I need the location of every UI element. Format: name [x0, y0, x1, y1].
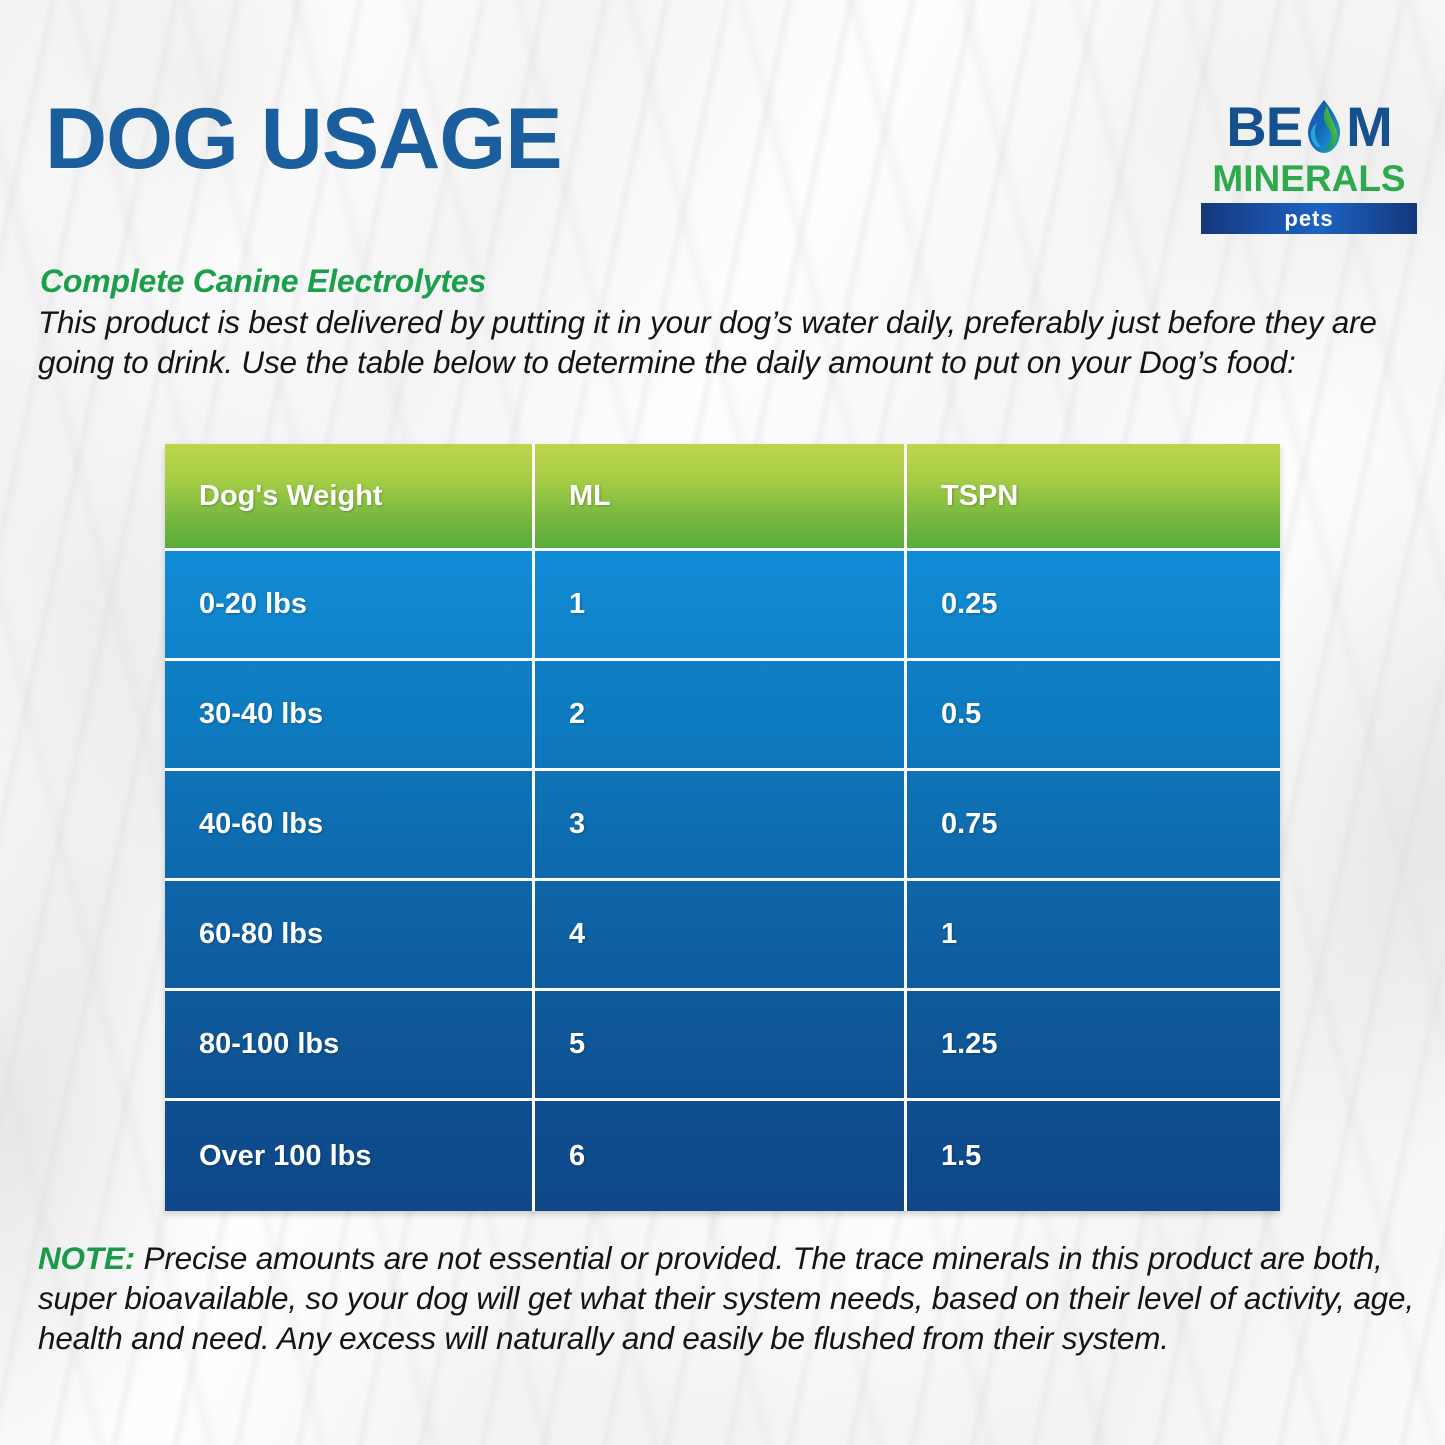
- cell-tspn: 0.25: [907, 551, 1280, 661]
- page-root: DOG USAGE BE: [0, 0, 1445, 1445]
- cell-ml: 3: [535, 771, 907, 881]
- table-row: 40-60 lbs 3 0.75: [165, 771, 1280, 881]
- header: DOG USAGE BE: [0, 0, 1445, 245]
- cell-tspn: 1.25: [907, 991, 1280, 1101]
- table-header-row: Dog's Weight ML TSPN: [165, 444, 1280, 551]
- table-row: 80-100 lbs 5 1.25: [165, 991, 1280, 1101]
- logo-beam-suffix: M: [1346, 99, 1392, 155]
- section-subheading: Complete Canine Electrolytes: [40, 263, 486, 300]
- logo-pets-bar: pets: [1201, 203, 1417, 234]
- water-droplet-icon: [1303, 99, 1345, 155]
- cell-tspn: 1.5: [907, 1101, 1280, 1211]
- cell-ml: 6: [535, 1101, 907, 1211]
- cell-weight: Over 100 lbs: [165, 1101, 535, 1211]
- cell-weight: 80-100 lbs: [165, 991, 535, 1101]
- logo-beam-prefix: BE: [1226, 99, 1302, 155]
- cell-weight: 30-40 lbs: [165, 661, 535, 771]
- logo-minerals-text: MINERALS: [1201, 160, 1417, 197]
- cell-ml: 4: [535, 881, 907, 991]
- column-header-weight: Dog's Weight: [165, 444, 535, 548]
- cell-ml: 2: [535, 661, 907, 771]
- cell-weight: 60-80 lbs: [165, 881, 535, 991]
- cell-ml: 5: [535, 991, 907, 1101]
- cell-weight: 40-60 lbs: [165, 771, 535, 881]
- cell-weight: 0-20 lbs: [165, 551, 535, 661]
- table-body: 0-20 lbs 1 0.25 30-40 lbs 2 0.5 40-60 lb…: [165, 551, 1280, 1211]
- brand-logo: BE: [1201, 98, 1417, 230]
- dosage-table: Dog's Weight ML TSPN 0-20 lbs 1 0.25 30-…: [165, 444, 1280, 1211]
- table-row: 30-40 lbs 2 0.5: [165, 661, 1280, 771]
- column-header-ml: ML: [535, 444, 907, 548]
- note-paragraph: NOTE: Precise amounts are not essential …: [38, 1238, 1418, 1358]
- page-title: DOG USAGE: [45, 96, 562, 182]
- cell-tspn: 0.75: [907, 771, 1280, 881]
- note-label: NOTE:: [38, 1240, 135, 1276]
- cell-tspn: 0.5: [907, 661, 1280, 771]
- cell-ml: 1: [535, 551, 907, 661]
- cell-tspn: 1: [907, 881, 1280, 991]
- note-body: Precise amounts are not essential or pro…: [38, 1240, 1414, 1356]
- logo-pets-text: pets: [1284, 206, 1333, 232]
- table-row: 60-80 lbs 4 1: [165, 881, 1280, 991]
- intro-paragraph: This product is best delivered by puttin…: [38, 302, 1416, 382]
- table-row: 0-20 lbs 1 0.25: [165, 551, 1280, 661]
- column-header-tspn: TSPN: [907, 444, 1280, 548]
- logo-wordmark-beam: BE: [1201, 98, 1417, 156]
- table-row: Over 100 lbs 6 1.5: [165, 1101, 1280, 1211]
